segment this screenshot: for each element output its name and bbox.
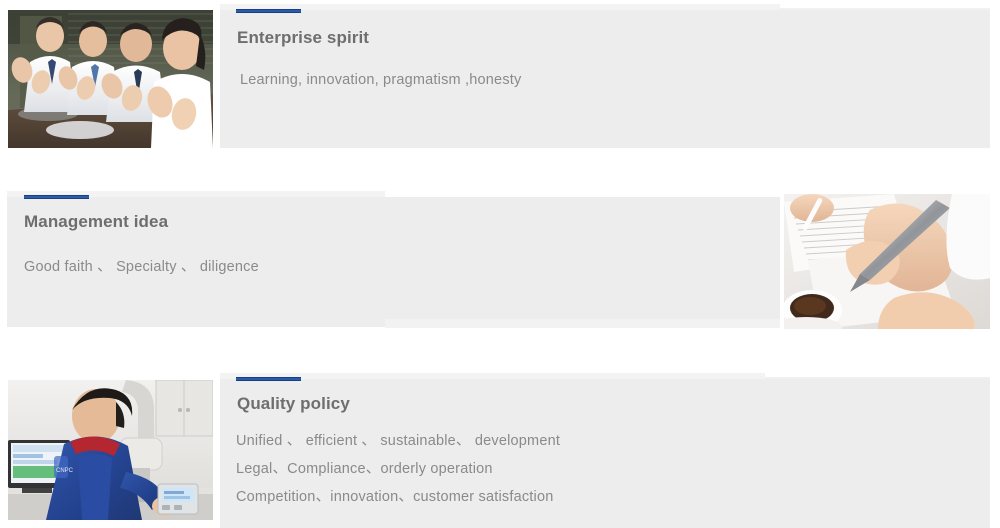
section-body-line: Good faith 、 Specialty 、 diligence — [24, 255, 259, 276]
section-enterprise-spirit: Enterprise spirit Learning, innovation, … — [0, 0, 1000, 155]
section-heading: Enterprise spirit — [237, 28, 369, 48]
section-quality-policy: CNPC Quality policy Unified 、 efficient … — [0, 368, 1000, 528]
section-body-line: Legal、Compliance、orderly operation — [236, 457, 493, 478]
section-heading: Quality policy — [237, 394, 350, 414]
team-applauding-photo — [8, 10, 213, 148]
section-body-line: Competition、innovation、customer satisfac… — [236, 485, 553, 506]
accent-bar — [236, 9, 301, 13]
section-management-idea: Management idea Good faith 、 Specialty 、… — [0, 186, 1000, 334]
panel-bottom-strip — [385, 319, 780, 328]
accent-bar — [236, 377, 301, 381]
technician-lab-equipment-photo: CNPC — [8, 380, 213, 520]
signing-documents-photo — [784, 194, 990, 329]
section-body-line: Unified 、 efficient 、 sustainable、 devel… — [236, 429, 560, 450]
section-body-line: Learning, innovation, pragmatism ,honest… — [240, 72, 521, 88]
section-heading: Management idea — [24, 212, 168, 232]
accent-bar — [24, 195, 89, 199]
